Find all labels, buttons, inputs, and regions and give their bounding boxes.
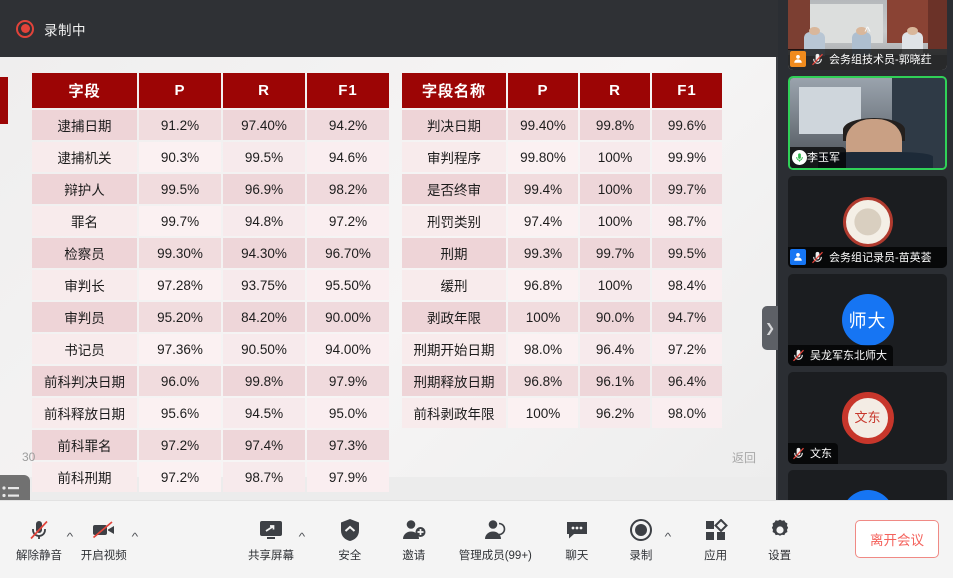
microphone-muted-icon	[810, 52, 825, 67]
participant-tiles: ^会务组技术员-郭晓荭李玉军会务组记录员-苗英荟师大吴龙军东北师大文东文东俊生˅	[782, 0, 953, 500]
participant-tile[interactable]: 俊生˅	[788, 470, 947, 500]
toolbar-left-group: 解除静音 ^ 开启视频 ^	[12, 514, 141, 565]
record-label: 录制	[629, 547, 652, 563]
video-options-caret-icon[interactable]: ^	[129, 532, 144, 565]
cell-field-name: 审判长	[32, 270, 137, 300]
cell-metric-value: 99.5%	[223, 142, 305, 172]
column-header-r: R	[580, 73, 650, 108]
camera-muted-icon	[91, 516, 117, 543]
cell-field-name: 前科释放日期	[32, 398, 137, 428]
cell-metric-value: 99.7%	[652, 174, 722, 204]
host-badge-icon	[790, 51, 806, 67]
cell-metric-value: 95.50%	[307, 270, 389, 300]
cell-field-name: 检察员	[32, 238, 137, 268]
cell-metric-value: 96.70%	[307, 238, 389, 268]
avatar: 俊生	[842, 490, 894, 500]
table-row: 审判长97.28%93.75%95.50%	[32, 270, 389, 300]
cell-metric-value: 94.8%	[223, 206, 305, 236]
cell-field-name: 刑罚类别	[402, 206, 506, 236]
participants-icon	[482, 516, 508, 543]
cell-field-name: 缓刑	[402, 270, 506, 300]
table-row: 刑期开始日期98.0%96.4%97.2%	[402, 334, 722, 364]
cell-metric-value: 96.4%	[652, 366, 722, 396]
cell-metric-value: 100%	[580, 270, 650, 300]
table-row: 判决日期99.40%99.8%99.6%	[402, 110, 722, 140]
microphone-active-icon	[792, 150, 807, 165]
cell-metric-value: 99.80%	[508, 142, 578, 172]
microphone-muted-icon	[810, 250, 825, 265]
mic-status-icon	[790, 347, 806, 363]
shield-icon	[339, 516, 361, 543]
cell-metric-value: 90.00%	[307, 302, 389, 332]
leave-meeting-button[interactable]: 离开会议	[855, 520, 939, 558]
cell-metric-value: 99.40%	[508, 110, 578, 140]
record-button[interactable]: 录制	[618, 514, 664, 565]
slide-page-number: 30	[22, 450, 35, 464]
table-row: 罪名99.7%94.8%97.2%	[32, 206, 389, 236]
table-row: 逮捕机关90.3%99.5%94.6%	[32, 142, 389, 172]
cell-field-name: 刑期释放日期	[402, 366, 506, 396]
column-header-f1: F1	[652, 73, 722, 108]
start-video-button[interactable]: 开启视频	[77, 514, 131, 565]
table-row: 刑期释放日期96.8%96.1%96.4%	[402, 366, 722, 396]
list-icon	[2, 486, 20, 498]
cell-metric-value: 100%	[508, 302, 578, 332]
cell-metric-value: 94.5%	[223, 398, 305, 428]
settings-label: 设置	[768, 547, 791, 563]
cell-field-name: 剥政年限	[402, 302, 506, 332]
cell-metric-value: 99.5%	[139, 174, 221, 204]
participant-tile[interactable]: 文东文东	[788, 372, 947, 464]
cell-metric-value: 94.7%	[652, 302, 722, 332]
cell-metric-value: 98.4%	[652, 270, 722, 300]
cell-metric-value: 99.6%	[652, 110, 722, 140]
cell-metric-value: 93.75%	[223, 270, 305, 300]
participant-name: 会务组技术员-郭晓荭	[829, 51, 932, 67]
cell-metric-value: 99.30%	[139, 238, 221, 268]
microphone-muted-icon	[27, 516, 51, 543]
meeting-window: 录制中 字段 P R F1 逮捕日期91.2%97.40%94.2%逮捕机关	[0, 0, 953, 578]
record-icon	[629, 516, 653, 543]
cell-metric-value: 97.4%	[508, 206, 578, 236]
host-badge-icon	[790, 249, 806, 265]
column-header-f1: F1	[307, 73, 389, 108]
table-header-row: 字段 P R F1	[32, 73, 389, 108]
unmute-button[interactable]: 解除静音	[12, 514, 66, 565]
cell-metric-value: 90.3%	[139, 142, 221, 172]
share-screen-button[interactable]: 共享屏幕	[244, 514, 298, 565]
cell-metric-value: 96.2%	[580, 398, 650, 428]
cell-metric-value: 99.5%	[652, 238, 722, 268]
cell-field-name: 刑期开始日期	[402, 334, 506, 364]
cell-metric-value: 96.8%	[508, 366, 578, 396]
toolbar-center-group: 共享屏幕 ^ 安全	[244, 514, 803, 565]
participant-tile[interactable]: 李玉军	[788, 76, 947, 170]
table-row: 是否终审99.4%100%99.7%	[402, 174, 722, 204]
cell-metric-value: 99.8%	[580, 110, 650, 140]
table-row: 书记员97.36%90.50%94.00%	[32, 334, 389, 364]
chevron-up-icon[interactable]: ^	[864, 24, 870, 39]
apps-label: 应用	[704, 547, 727, 563]
cell-field-name: 前科剥政年限	[402, 398, 506, 428]
cell-metric-value: 99.8%	[223, 366, 305, 396]
cell-field-name: 审判员	[32, 302, 137, 332]
cell-metric-value: 100%	[580, 174, 650, 204]
table-row: 审判程序99.80%100%99.9%	[402, 142, 722, 172]
cell-metric-value: 98.7%	[652, 206, 722, 236]
cell-metric-value: 96.9%	[223, 174, 305, 204]
invite-button[interactable]: 邀请	[391, 514, 437, 565]
cell-metric-value: 99.9%	[652, 142, 722, 172]
cell-metric-value: 99.3%	[508, 238, 578, 268]
security-label: 安全	[338, 547, 361, 563]
metrics-table-right-body: 判决日期99.40%99.8%99.6%审判程序99.80%100%99.9%是…	[402, 110, 722, 428]
share-screen-label: 共享屏幕	[248, 547, 294, 563]
gear-icon	[768, 516, 792, 543]
cell-metric-value: 100%	[580, 142, 650, 172]
participant-name: 吴龙军东北师大	[810, 347, 887, 363]
cell-metric-value: 90.50%	[223, 334, 305, 364]
share-options-caret-icon[interactable]: ^	[296, 532, 311, 565]
cell-metric-value: 94.6%	[307, 142, 389, 172]
cell-field-name: 书记员	[32, 334, 137, 364]
table-row: 刑罚类别97.4%100%98.7%	[402, 206, 722, 236]
participant-nametag: 会务组技术员-郭晓荭	[788, 49, 947, 70]
cell-metric-value: 99.4%	[508, 174, 578, 204]
participant-name: 李玉军	[807, 149, 840, 165]
cell-field-name: 是否终审	[402, 174, 506, 204]
cell-metric-value: 95.20%	[139, 302, 221, 332]
annotation-list-button[interactable]	[0, 475, 30, 500]
cell-metric-value: 94.00%	[307, 334, 389, 364]
cell-metric-value: 95.0%	[307, 398, 389, 428]
chat-label: 聊天	[565, 547, 588, 563]
security-button[interactable]: 安全	[327, 514, 373, 565]
cell-metric-value: 94.30%	[223, 238, 305, 268]
participant-name: 文东	[810, 445, 832, 461]
manage-participants-label: 管理成员(99+)	[459, 547, 532, 563]
microphone-muted-icon	[791, 348, 806, 363]
cell-metric-value: 98.0%	[652, 398, 722, 428]
share-screen-icon	[258, 516, 284, 543]
recording-bar: 录制中	[0, 0, 778, 57]
cell-metric-value: 99.7%	[580, 238, 650, 268]
presentation-slide: 字段 P R F1 逮捕日期91.2%97.40%94.2%逮捕机关90.3%9…	[0, 57, 778, 477]
table-row: 检察员99.30%94.30%96.70%	[32, 238, 389, 268]
manage-participants-button[interactable]: 管理成员(99+)	[455, 514, 536, 565]
recording-label: 录制中	[44, 19, 86, 39]
participant-nametag: 李玉军	[790, 147, 846, 168]
cell-field-name: 判决日期	[402, 110, 506, 140]
table-row: 逮捕日期91.2%97.40%94.2%	[32, 110, 389, 140]
table-row: 刑期99.3%99.7%99.5%	[402, 238, 722, 268]
metrics-table-right: 字段名称 P R F1 判决日期99.40%99.8%99.6%审判程序99.8…	[400, 71, 724, 430]
cell-metric-value: 96.0%	[139, 366, 221, 396]
meeting-toolbar: 解除静音 ^ 开启视频 ^	[0, 500, 953, 578]
shared-screen-stage[interactable]: 字段 P R F1 逮捕日期91.2%97.40%94.2%逮捕机关90.3%9…	[0, 57, 778, 500]
cell-metric-value: 97.2%	[307, 206, 389, 236]
cell-field-name: 逮捕机关	[32, 142, 137, 172]
cell-field-name: 刑期	[402, 238, 506, 268]
column-header-p: P	[508, 73, 578, 108]
column-header-p: P	[139, 73, 221, 108]
table-row: 前科剥政年限100%96.2%98.0%	[402, 398, 722, 428]
record-options-caret-icon[interactable]: ^	[662, 532, 677, 565]
cell-metric-value: 96.8%	[508, 270, 578, 300]
apps-button[interactable]: 应用	[693, 514, 739, 565]
table-row: 前科判决日期96.0%99.8%97.9%	[32, 366, 389, 396]
column-header-r: R	[223, 73, 305, 108]
participant-nametag: 吴龙军东北师大	[788, 345, 893, 366]
table-header-row: 字段名称 P R F1	[402, 73, 722, 108]
cell-metric-value: 97.2%	[652, 334, 722, 364]
apps-icon	[704, 516, 728, 543]
column-header-field-name: 字段名称	[402, 73, 506, 108]
cell-field-name: 罪名	[32, 206, 137, 236]
collapse-panel-button[interactable]: ❯	[762, 306, 778, 350]
cell-metric-value: 90.0%	[580, 302, 650, 332]
table-row: 审判员95.20%84.20%90.00%	[32, 302, 389, 332]
start-video-label: 开启视频	[81, 547, 127, 563]
invite-user-icon	[401, 516, 427, 543]
table-row: 前科释放日期95.6%94.5%95.0%	[32, 398, 389, 428]
cell-metric-value: 96.4%	[580, 334, 650, 364]
participant-tile[interactable]: 师大吴龙军东北师大	[788, 274, 947, 366]
cell-metric-value: 100%	[580, 206, 650, 236]
mic-status-icon	[790, 445, 806, 461]
cell-field-name: 辩护人	[32, 174, 137, 204]
participant-nametag: 会务组记录员-苗英荟	[788, 247, 947, 268]
chat-icon	[565, 516, 589, 543]
participant-nametag: 文东	[788, 443, 838, 464]
slide-back-link[interactable]: 返回	[732, 449, 756, 466]
participants-rail[interactable]: ^会务组技术员-郭晓荭李玉军会务组记录员-苗英荟师大吴龙军东北师大文东文东俊生˅	[782, 0, 953, 500]
avatar: 文东	[842, 392, 894, 444]
cell-field-name: 审判程序	[402, 142, 506, 172]
cell-metric-value: 97.28%	[139, 270, 221, 300]
cell-metric-value: 96.1%	[580, 366, 650, 396]
cell-metric-value: 95.6%	[139, 398, 221, 428]
cell-metric-value: 91.2%	[139, 110, 221, 140]
cell-metric-value: 97.9%	[307, 366, 389, 396]
cell-metric-value: 98.2%	[307, 174, 389, 204]
table-row: 剥政年限100%90.0%94.7%	[402, 302, 722, 332]
metrics-table-left-body: 逮捕日期91.2%97.40%94.2%逮捕机关90.3%99.5%94.6%辩…	[32, 110, 389, 492]
participant-tile[interactable]: 会务组记录员-苗英荟	[788, 176, 947, 268]
invite-label: 邀请	[402, 547, 425, 563]
cell-metric-value: 94.2%	[307, 110, 389, 140]
avatar	[843, 197, 893, 247]
participant-tile[interactable]: ^会务组技术员-郭晓荭	[788, 0, 947, 70]
panel-resize-handle[interactable]	[776, 57, 778, 500]
column-header-field: 字段	[32, 73, 137, 108]
cell-metric-value: 99.7%	[139, 206, 221, 236]
cell-metric-value: 97.40%	[223, 110, 305, 140]
slide-tables: 字段 P R F1 逮捕日期91.2%97.40%94.2%逮捕机关90.3%9…	[0, 57, 778, 477]
cell-metric-value: 98.0%	[508, 334, 578, 364]
unmute-label: 解除静音	[16, 547, 62, 563]
chat-button[interactable]: 聊天	[554, 514, 600, 565]
cell-metric-value: 97.36%	[139, 334, 221, 364]
mic-status-icon	[809, 249, 825, 265]
table-row: 缓刑96.8%100%98.4%	[402, 270, 722, 300]
cell-field-name: 逮捕日期	[32, 110, 137, 140]
table-row: 辩护人99.5%96.9%98.2%	[32, 174, 389, 204]
avatar: 师大	[842, 294, 894, 346]
mic-status-icon	[809, 51, 825, 67]
microphone-muted-icon	[791, 446, 806, 461]
cell-metric-value: 84.20%	[223, 302, 305, 332]
record-indicator-icon	[16, 20, 34, 38]
cell-metric-value: 100%	[508, 398, 578, 428]
slide-footer: 30 返回	[0, 437, 778, 477]
participant-name: 会务组记录员-苗英荟	[829, 249, 932, 265]
metrics-table-left: 字段 P R F1 逮捕日期91.2%97.40%94.2%逮捕机关90.3%9…	[30, 71, 391, 494]
chevron-right-icon: ❯	[765, 321, 775, 335]
cell-field-name: 前科判决日期	[32, 366, 137, 396]
audio-options-caret-icon[interactable]: ^	[64, 532, 79, 565]
settings-button[interactable]: 设置	[757, 514, 803, 565]
